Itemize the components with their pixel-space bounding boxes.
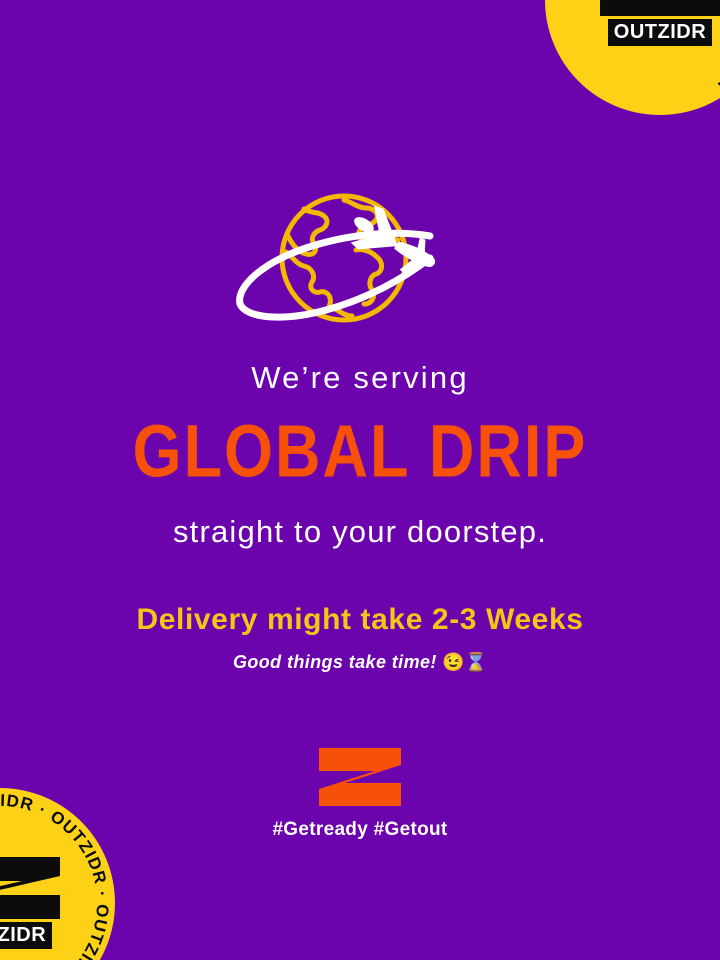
subheadline-text: straight to your doorstep.: [0, 516, 720, 547]
globe-airplane-icon: [234, 178, 486, 338]
outzidr-z-mark: [0, 857, 60, 919]
delivery-notice-text: Delivery might take 2-3 Weeks: [0, 605, 720, 635]
sticker-core: OUTZIDR: [586, 0, 720, 46]
sticker-core: OUTZIDR: [0, 857, 74, 949]
sticker-wordmark: OUTZIDR: [608, 19, 712, 46]
outzidr-z-mark: [600, 0, 720, 16]
airplane-icon: [342, 199, 445, 288]
promo-poster: We’re serving GLOBAL DRIP straight to yo…: [0, 0, 720, 960]
sticker-bottom-left: OUTZIDR · OUTZIDR · OUTZIDR · OUTZIDR · …: [0, 788, 115, 960]
reassurance-text: Good things take time! 😉⌛: [0, 653, 720, 671]
sticker-wordmark: OUTZIDR: [0, 922, 52, 949]
wink-hourglass-emoji: 😉⌛: [442, 652, 487, 672]
reassurance-label: Good things take time!: [233, 652, 437, 672]
sticker-top-right: OUTZIDR · OUTZIDR · OUTZIDR · OUTZIDR · …: [545, 0, 720, 115]
page-title: GLOBAL DRIP: [0, 415, 720, 489]
poster-copy: We’re serving GLOBAL DRIP straight to yo…: [0, 362, 720, 671]
outzidr-z-logo: [319, 748, 401, 806]
eyebrow-text: We’re serving: [0, 362, 720, 393]
